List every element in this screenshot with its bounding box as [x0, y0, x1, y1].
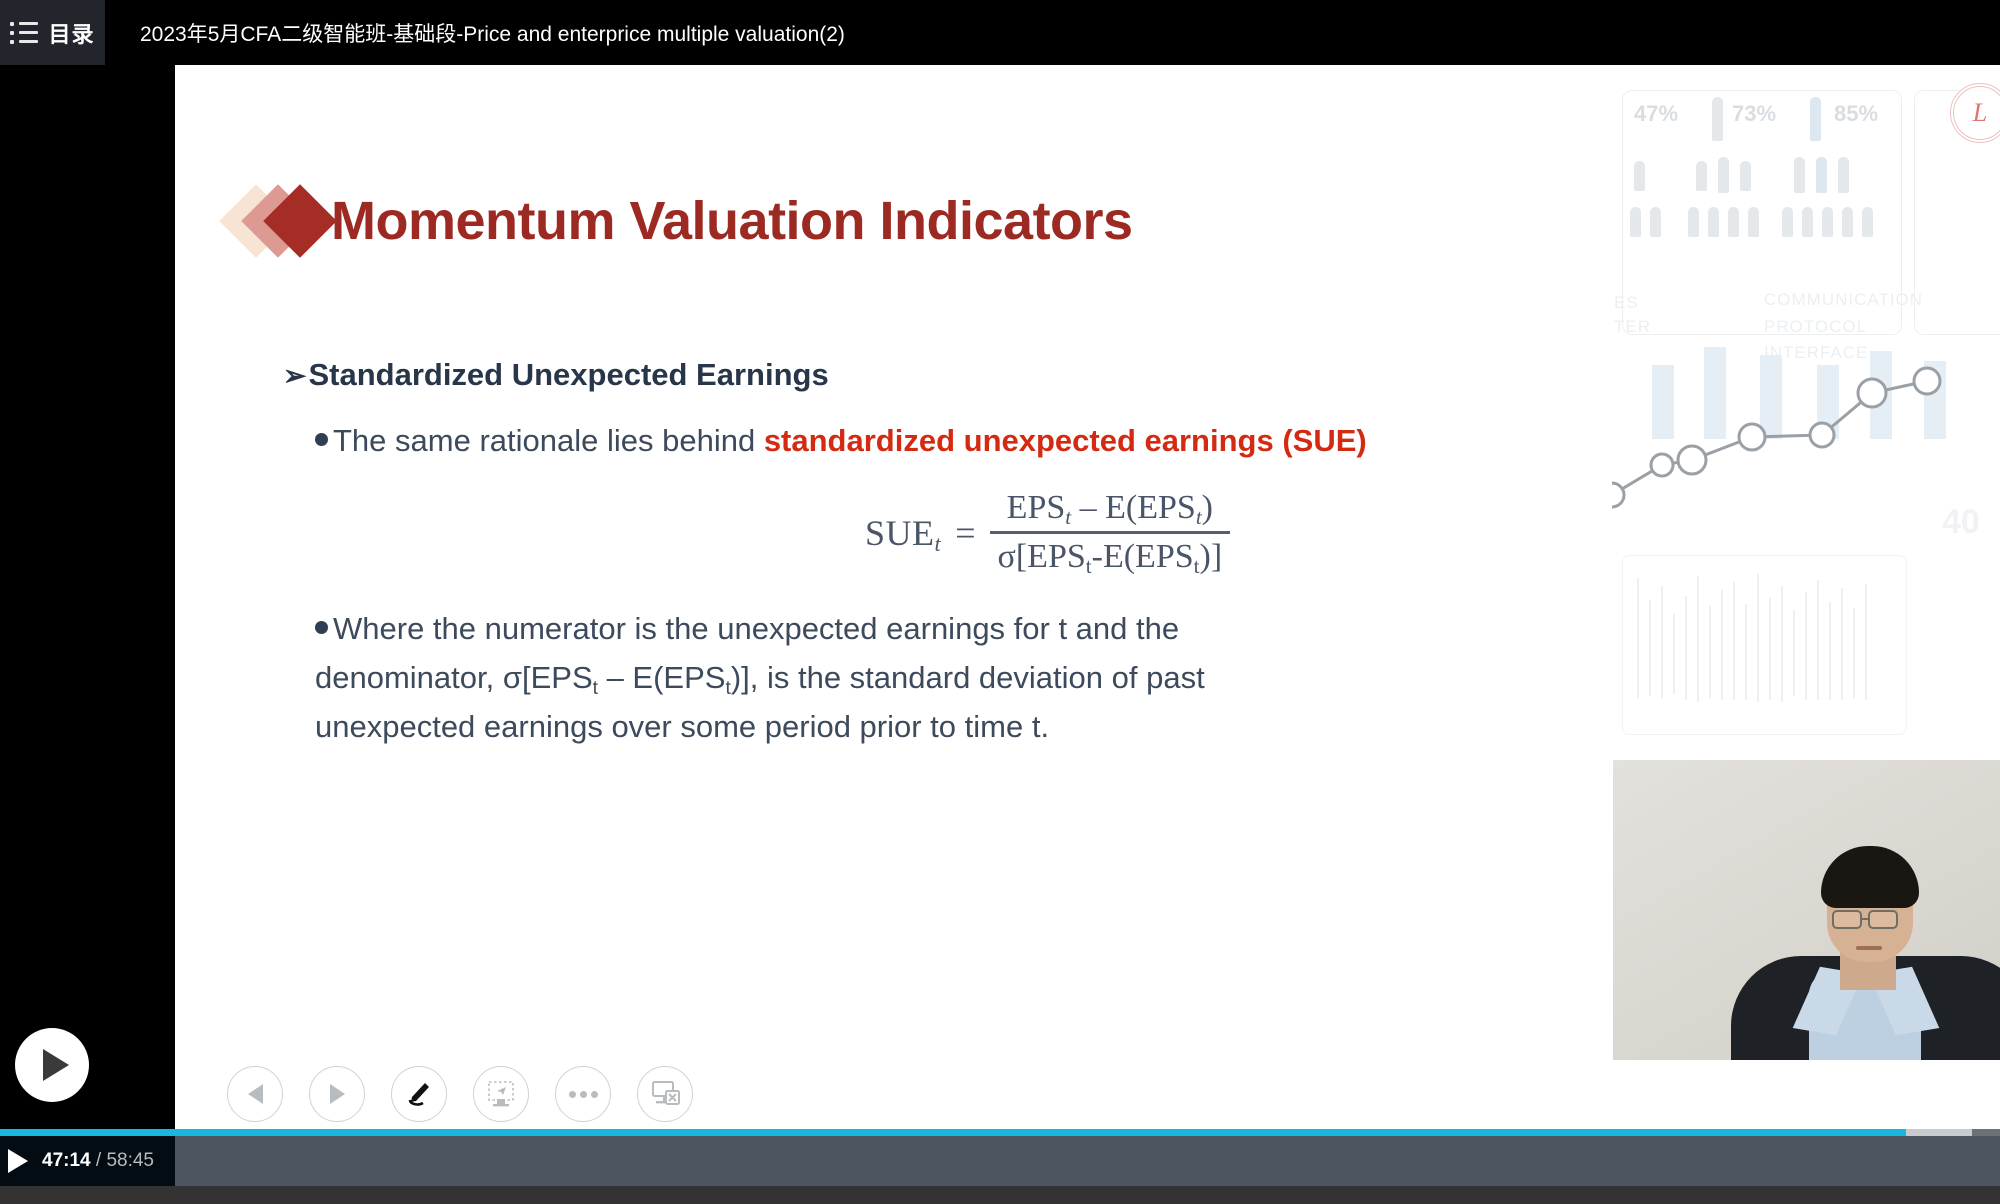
- annotate-pen-button[interactable]: [391, 1066, 447, 1122]
- total-time: 58:45: [106, 1150, 154, 1171]
- infographic-percent-1: 73%: [1732, 101, 1776, 127]
- infographic-label-3: PROTOCOL: [1764, 317, 1867, 337]
- webcam-glasses-right: [1868, 910, 1898, 929]
- webcam-glasses-left: [1832, 910, 1862, 929]
- formula-lhs-sub: t: [935, 531, 942, 556]
- formula-numerator: EPSt – E(EPSt): [999, 489, 1221, 531]
- player-controls: 47:14 / 58:45: [0, 1136, 175, 1186]
- player-footer: 47:14 / 58:45: [0, 1136, 2000, 1204]
- sue-formula: SUEt = EPSt – E(EPSt) σ[EPSt-E(EPSt)]: [865, 489, 1230, 576]
- left-gutter: [0, 65, 175, 1129]
- laser-pointer-icon: [484, 1077, 518, 1111]
- background-infographic: 47% 73% 85% L ES TER: [1612, 65, 2000, 765]
- presentation-screen-button[interactable]: [637, 1066, 693, 1122]
- formula-denominator: σ[EPSt-E(EPSt)]: [990, 534, 1231, 576]
- list-icon: [10, 22, 38, 44]
- arrow-marker-icon: ➢: [283, 359, 306, 392]
- lecture-title: 2023年5月CFA二级智能班-基础段-Price and enterprice…: [140, 0, 845, 65]
- bullet-2-line2a: denominator, σ[EPS: [315, 660, 593, 695]
- bullet-dot-icon: [315, 621, 328, 634]
- top-bar: 目录 2023年5月CFA二级智能班-基础段-Price and enterpr…: [0, 0, 2000, 65]
- bullet-1-highlight: standardized unexpected earnings (SUE): [764, 423, 1367, 458]
- page-title: Momentum Valuation Indicators: [331, 190, 1133, 252]
- prev-slide-button[interactable]: [227, 1066, 283, 1122]
- screen-off-icon: [648, 1077, 682, 1111]
- slide-canvas: Momentum Valuation Indicators ➢ Standard…: [175, 65, 2000, 1121]
- ellipsis-icon: [569, 1091, 598, 1098]
- player-footer-bg: [175, 1136, 2000, 1186]
- bullet-2-sub1: t: [593, 678, 598, 699]
- bullet-2-sub2: t: [725, 678, 730, 699]
- level1-bullet: ➢ Standardized Unexpected Earnings: [283, 357, 829, 393]
- formula-lhs: SUEt: [865, 512, 941, 554]
- triangle-left-icon: [248, 1084, 263, 1104]
- play-icon[interactable]: [8, 1149, 28, 1173]
- diamond-decoration-icon: [230, 185, 325, 257]
- bullet-item-1: The same rationale lies behind standardi…: [315, 417, 1367, 466]
- triangle-right-icon: [330, 1084, 345, 1104]
- bullet-2-line2c: )], is the standard deviation of past: [731, 660, 1205, 695]
- infographic-percent-0: 47%: [1634, 101, 1678, 127]
- infographic-percent-2: 85%: [1834, 101, 1878, 127]
- progress-fill: [0, 1129, 1906, 1136]
- bullet-2-line1: Where the numerator is the unexpected ea…: [333, 611, 1179, 646]
- bullet-1-plain: The same rationale lies behind: [333, 423, 764, 458]
- formula-fraction: EPSt – E(EPSt) σ[EPSt-E(EPSt)]: [990, 489, 1231, 576]
- video-player-page: 目录 2023年5月CFA二级智能班-基础段-Price and enterpr…: [0, 0, 2000, 1204]
- infographic-label-0: ES: [1614, 293, 1639, 313]
- laser-pointer-button[interactable]: [473, 1066, 529, 1122]
- infographic-label-2: COMMUNICATION: [1764, 290, 1923, 310]
- play-circle-icon[interactable]: [15, 1028, 89, 1102]
- play-triangle: [43, 1049, 69, 1081]
- level1-label: Standardized Unexpected Earnings: [308, 357, 828, 393]
- time-display: 47:14 / 58:45: [42, 1150, 154, 1172]
- slide-heading: Momentum Valuation Indicators: [230, 185, 1133, 257]
- formula-equals: =: [955, 512, 975, 554]
- more-options-button[interactable]: [555, 1066, 611, 1122]
- bullet-item-2: Where the numerator is the unexpected ea…: [315, 605, 1325, 752]
- next-slide-button[interactable]: [309, 1066, 365, 1122]
- toc-menu-button[interactable]: 目录: [0, 0, 105, 65]
- current-time: 47:14: [42, 1150, 91, 1171]
- infographic-label-1: TER: [1614, 317, 1651, 337]
- infographic-hex-label: 40: [1942, 503, 1980, 542]
- infographic-candlestick-card: [1622, 555, 1907, 735]
- bullet-dot-icon: [315, 433, 328, 446]
- slide-toolbar: [175, 1060, 2000, 1129]
- toc-menu-label: 目录: [48, 17, 94, 49]
- pen-strikethrough-icon: [402, 1077, 436, 1111]
- bullet-2-line3: unexpected earnings over some period pri…: [315, 709, 1049, 744]
- time-separator: /: [96, 1150, 101, 1171]
- bullet-2-line2b: – E(EPS: [598, 660, 726, 695]
- video-progress-bar[interactable]: [0, 1129, 2000, 1136]
